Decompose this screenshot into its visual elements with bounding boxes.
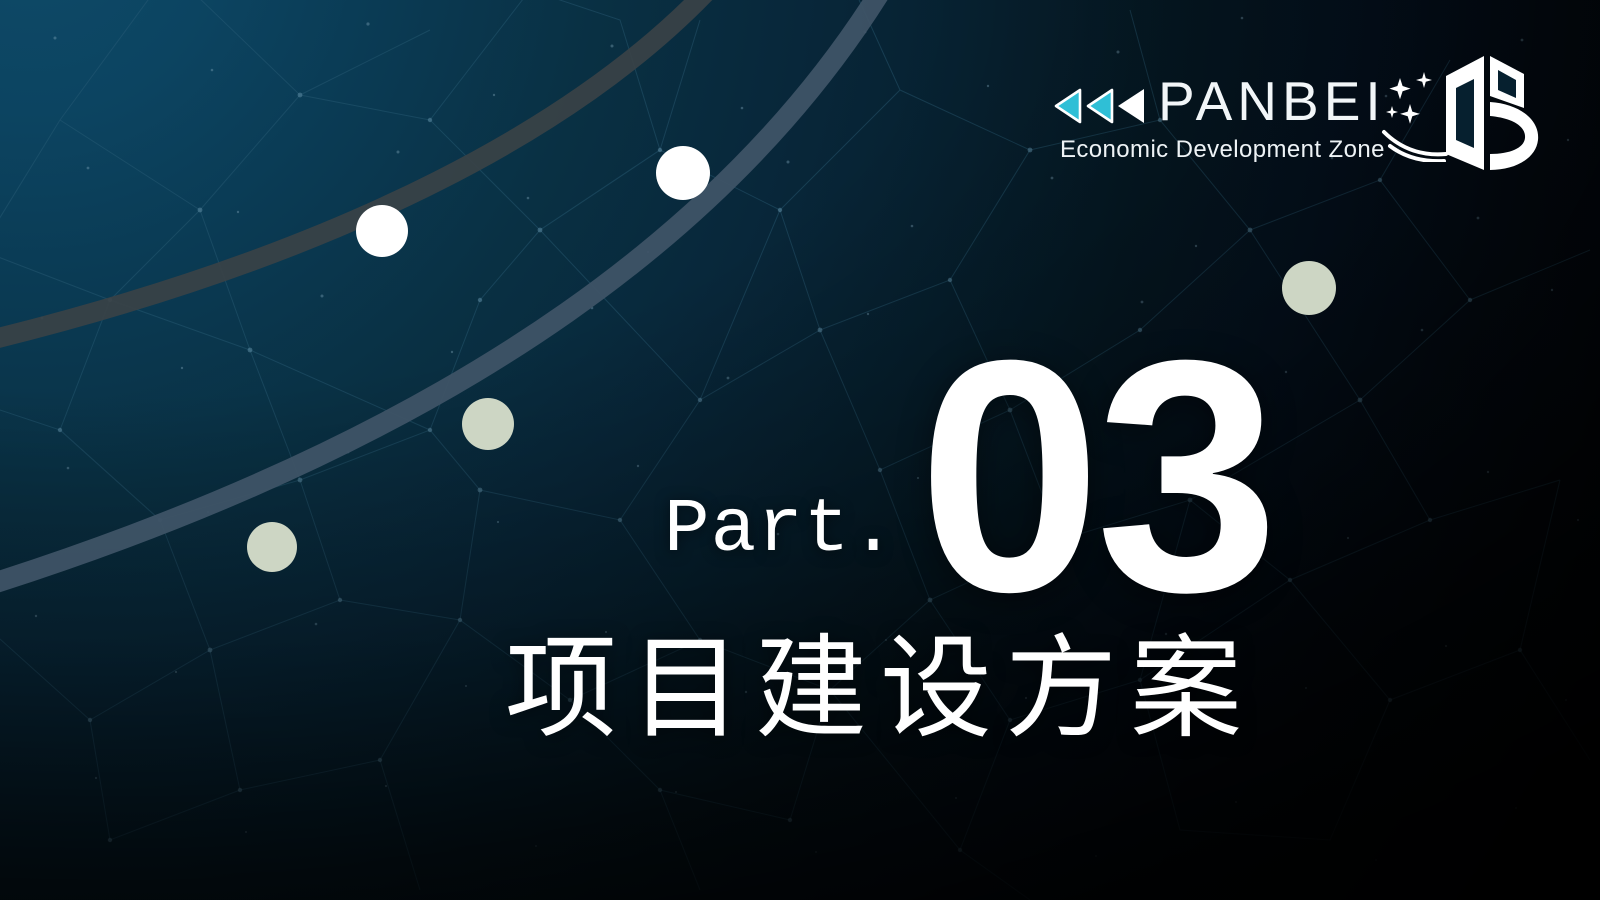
triple-left-arrow-icon [1052,86,1148,126]
slide-canvas: Part. 03 项目建设方案 PANBEI Economic Developm… [0,0,1600,900]
logo-tagline: Economic Development Zone [1060,138,1385,162]
logo-wordmark: PANBEI [1158,74,1386,129]
arc-dark [0,0,735,352]
node-white-top [656,146,710,200]
node-white-left [356,205,408,257]
node-sage-mid [462,398,514,450]
node-sage-right [1282,261,1336,315]
node-sage-lower [247,522,297,572]
brand-logo[interactable]: PANBEI Economic Development Zone [1046,56,1536,172]
panbei-building-mark-icon [1438,52,1546,174]
